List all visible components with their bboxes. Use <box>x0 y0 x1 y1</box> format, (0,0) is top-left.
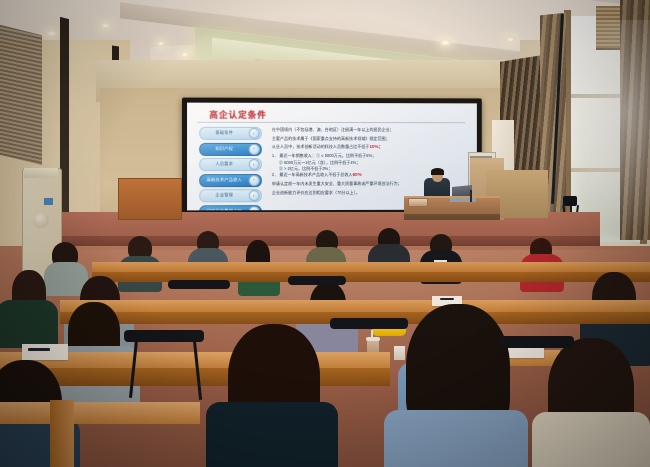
presenter-laptop-base <box>450 198 476 202</box>
wall-grille <box>0 25 42 165</box>
ceiling-downlight <box>181 52 189 57</box>
chair-backrest <box>330 318 408 329</box>
chair-backrest <box>168 280 230 289</box>
presenter-desk-shadow <box>404 214 500 220</box>
ceiling-downlight <box>440 39 451 46</box>
ceiling-downlight <box>505 36 516 43</box>
desk-leg <box>50 400 74 467</box>
air-conditioner-top <box>24 168 58 178</box>
lecture-hall-photo: 高企认定条件 基础条件›知识产权›人员要求›高新技术产品收入›企业管理›研究开发… <box>0 0 650 467</box>
presenter-hair <box>431 168 444 175</box>
attendee-torso <box>206 402 338 467</box>
ceiling-downlight <box>46 30 57 37</box>
attendee-torso <box>384 410 528 467</box>
presenter-microphone <box>470 190 472 202</box>
ceiling-downlight <box>157 41 165 46</box>
attendee-torso <box>532 412 650 467</box>
curtain-right-panel <box>620 0 650 240</box>
desk-front-top <box>0 402 200 424</box>
ceiling-downlight <box>100 22 111 29</box>
left-lectern <box>118 178 182 220</box>
chair-backrest <box>500 336 574 348</box>
presenter-nameplate <box>408 198 428 207</box>
air-conditioner-display <box>33 212 49 228</box>
chair-backrest <box>288 276 346 285</box>
air-conditioner-badge <box>44 198 53 205</box>
pen <box>28 348 50 351</box>
